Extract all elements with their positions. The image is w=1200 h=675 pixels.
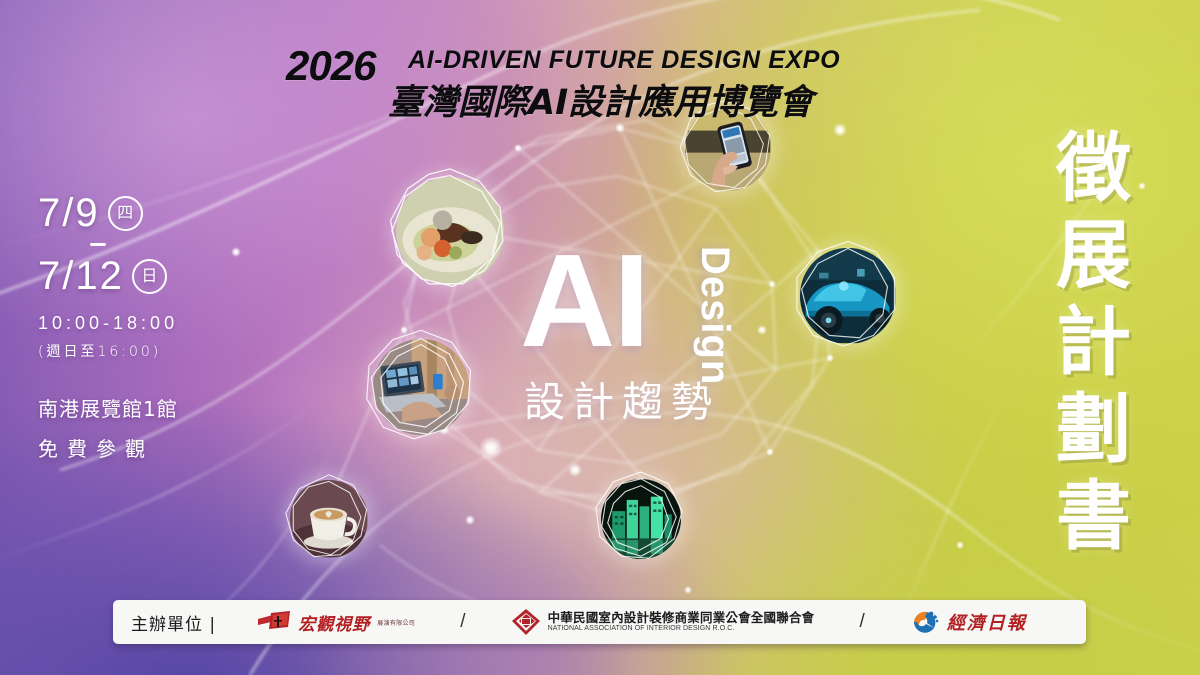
event-admission: 免費參觀 xyxy=(38,433,268,462)
bubble-ring-car xyxy=(790,238,906,354)
organizer-economic-daily-news[interactable]: 經濟日報 xyxy=(910,609,1027,635)
orange-blue-swoosh-mark-icon xyxy=(910,609,940,635)
headline-year: 2026 xyxy=(286,42,375,90)
sponsor-separator-2: / xyxy=(859,611,864,633)
sponsor-bar-label: 主辦單位 | xyxy=(131,610,216,635)
red-diamond-mark-icon xyxy=(511,608,541,636)
organizer-2-name-en: NATIONAL ASSOCIATION OF INTERIOR DESIGN … xyxy=(548,625,815,633)
vertical-title: 徵展計劃書 xyxy=(1049,128,1124,563)
event-venue: 南港展覽館1館 xyxy=(38,393,268,422)
organizer-3-name: 經濟日報 xyxy=(947,609,1027,635)
date-range-dash xyxy=(90,243,106,246)
lockup-design: Design xyxy=(692,246,737,385)
organizer-1-name: 宏觀視野 xyxy=(298,610,370,635)
sponsor-label-divider: | xyxy=(209,615,216,635)
expo-poster: 2026 AI-DRIVEN FUTURE DESIGN EXPO 臺灣國際AI… xyxy=(0,0,1200,675)
headline-english: AI-DRIVEN FUTURE DESIGN EXPO xyxy=(408,46,840,75)
bubble-ring-city xyxy=(592,470,690,568)
bubble-coffee-cup xyxy=(282,472,376,566)
bubble-laptop-meeting xyxy=(362,328,480,446)
bubble-concept-car xyxy=(790,238,906,354)
lockup-ai: AI xyxy=(520,240,648,361)
event-date-end-row: 7/12 日 xyxy=(38,255,268,297)
event-info-block: 7/9 四 7/12 日 10:00-18:00 (週日至16:00) 南港展覽… xyxy=(38,192,268,462)
bubble-ring-laptop xyxy=(362,328,480,446)
organizer-macro-vision[interactable]: 宏觀視野 展演有限公司 xyxy=(257,610,415,635)
organizer-naid-roc[interactable]: 中華民國室內設計裝修商業同業公會全國聯合會 NATIONAL ASSOCIATI… xyxy=(511,608,815,636)
date-end-value: 7/12 xyxy=(38,255,124,297)
lockup-subtitle: 設計趨勢 xyxy=(524,368,720,428)
organizer-2-text-block: 中華民國室內設計裝修商業同業公會全國聯合會 NATIONAL ASSOCIATI… xyxy=(548,611,815,634)
sponsor-label-text: 主辦單位 xyxy=(131,615,203,635)
date-start-weekday: 四 xyxy=(108,196,143,231)
bubble-ring-food xyxy=(384,165,516,297)
event-hours: 10:00-18:00 xyxy=(38,313,268,334)
center-lockup: AI Design 設計趨勢 xyxy=(520,240,780,430)
event-hours-note: (週日至16:00) xyxy=(38,341,268,361)
headline-block: 2026 AI-DRIVEN FUTURE DESIGN EXPO 臺灣國際AI… xyxy=(286,20,886,112)
bubble-digital-city xyxy=(592,470,690,568)
organizer-2-name: 中華民國室內設計裝修商業同業公會全國聯合會 xyxy=(548,611,815,625)
bubble-food-plating xyxy=(384,165,516,297)
sponsor-separator-1: / xyxy=(460,611,465,633)
headline-chinese: 臺灣國際AI設計應用博覽會 xyxy=(388,74,813,125)
sponsor-bar: 主辦單位 | 宏觀視野 展演有限公司 / xyxy=(113,600,1086,644)
date-end-weekday: 日 xyxy=(132,259,167,294)
event-date-start-row: 7/9 四 xyxy=(38,192,268,234)
red-flag-mark-icon xyxy=(257,610,291,634)
date-start-value: 7/9 xyxy=(38,192,100,234)
organizer-1-sub: 展演有限公司 xyxy=(377,618,415,627)
bubble-ring-coffee xyxy=(282,472,376,566)
